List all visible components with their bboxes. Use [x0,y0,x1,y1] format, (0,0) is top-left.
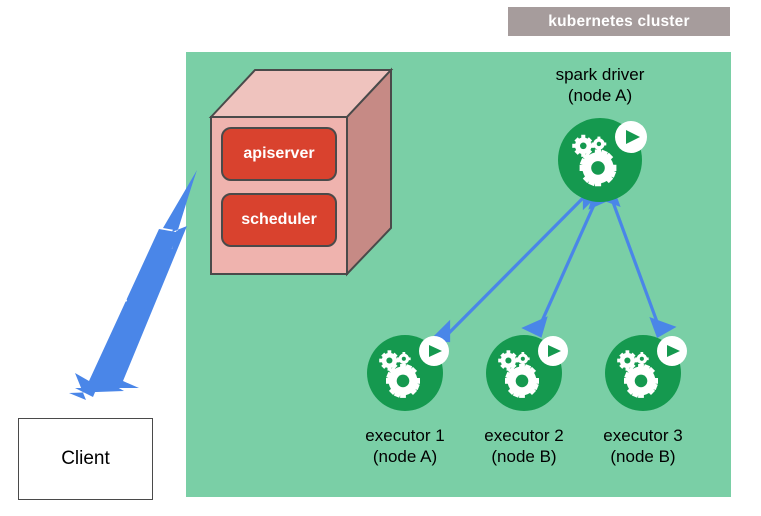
scheduler-box[interactable] [222,194,336,246]
spark-submit-arrow-body [69,170,197,400]
apiserver-box[interactable] [222,128,336,180]
client-box[interactable]: Client [18,418,153,500]
kubernetes-cluster-badge: kubernetes cluster [508,7,730,36]
control-plane-cube [211,70,391,274]
client-label: Client [61,448,110,470]
